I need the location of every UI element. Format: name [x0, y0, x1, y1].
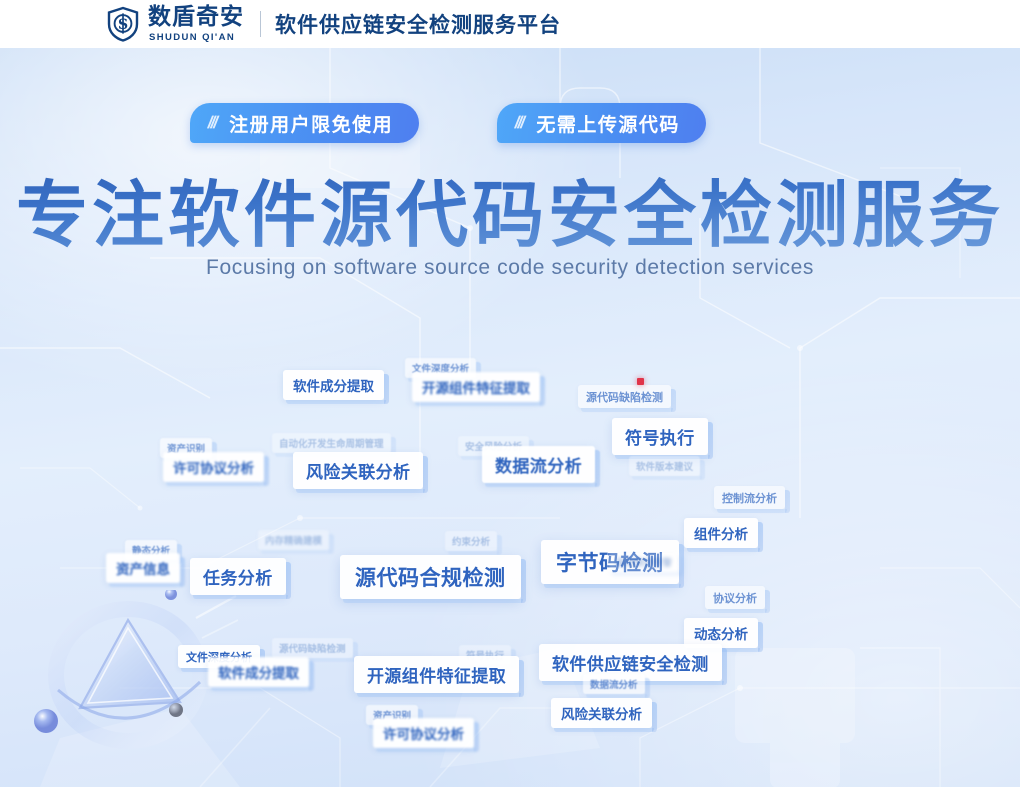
keyword-tag[interactable]: 符号执行 [612, 418, 708, 455]
keyword-tag[interactable]: 任务分析 [190, 558, 286, 595]
keyword-tag[interactable]: 许可协议分析 [163, 452, 264, 482]
keyword-tag[interactable]: 漏洞情报告警 [608, 552, 679, 572]
keyword-tag[interactable]: 风险关联分析 [551, 698, 652, 728]
hero-section: /// 注册用户限免使用 /// 无需上传源代码 专注软件源代码安全检测服务 F… [0, 48, 1020, 787]
brand-logo[interactable]: S 数盾奇安 SHUDUN QI'AN [104, 5, 244, 43]
keyword-tag[interactable]: 约束分析 [445, 531, 497, 551]
slash-icon: /// [206, 113, 218, 133]
hero-badges: /// 注册用户限免使用 /// 无需上传源代码 [190, 103, 706, 143]
keyword-tag[interactable]: 资产信息 [106, 553, 180, 583]
badge-no-source-upload[interactable]: /// 无需上传源代码 [497, 103, 706, 143]
keyword-tag[interactable]: 源代码缺陷检测 [272, 638, 353, 658]
landing-page: S 数盾奇安 SHUDUN QI'AN 软件供应链安全检测服务平台 [0, 0, 1020, 787]
keyword-tag[interactable]: 开源组件特征提取 [412, 372, 540, 402]
badge-label: 无需上传源代码 [536, 110, 680, 137]
brand-name-cn: 数盾奇安 [148, 6, 244, 29]
keyword-tag[interactable]: 许可协议分析 [373, 718, 474, 748]
brand-text: 数盾奇安 SHUDUN QI'AN [142, 6, 244, 43]
badge-free-for-registered-users[interactable]: /// 注册用户限免使用 [190, 103, 419, 143]
hero-title: 专注软件源代码安全检测服务 [0, 156, 1020, 261]
keyword-tag[interactable]: 软件成分提取 [208, 657, 309, 687]
brand-divider [260, 11, 261, 37]
glass-triangle-icon [28, 590, 238, 765]
keyword-tag[interactable]: 数据流分析 [482, 446, 595, 483]
site-header: S 数盾奇安 SHUDUN QI'AN 软件供应链安全检测服务平台 [0, 0, 1020, 48]
keyword-tag[interactable]: 控制流分析 [714, 486, 785, 509]
page-title: 软件供应链安全检测服务平台 [275, 9, 561, 39]
keyword-tag[interactable]: 组件分析 [684, 518, 758, 548]
shield-icon: S [104, 5, 142, 43]
slash-icon: /// [513, 113, 525, 133]
keyword-tag[interactable]: 开源组件特征提取 [354, 656, 519, 693]
keyword-tag[interactable]: 协议分析 [705, 586, 765, 609]
keyword-tag[interactable]: 源代码缺陷检测 [578, 385, 671, 408]
badge-label: 注册用户限免使用 [229, 110, 393, 137]
red-marker-dot [637, 378, 644, 385]
keyword-tag[interactable]: 自动化开发生命周期管理 [272, 433, 391, 453]
keyword-tag[interactable]: 数据流分析 [583, 674, 645, 694]
hero-subtitle: Focusing on software source code securit… [0, 256, 1020, 280]
keyword-tag[interactable]: 源代码合规检测 [340, 555, 521, 599]
brand-name-en: SHUDUN QI'AN [149, 32, 244, 43]
keyword-tag[interactable]: 软件成分提取 [283, 370, 384, 400]
keyword-tag[interactable]: 风险关联分析 [293, 452, 423, 489]
keyword-tag[interactable]: 软件版本建议 [629, 456, 700, 476]
keyword-tag[interactable]: 内存精确建模 [258, 530, 329, 550]
